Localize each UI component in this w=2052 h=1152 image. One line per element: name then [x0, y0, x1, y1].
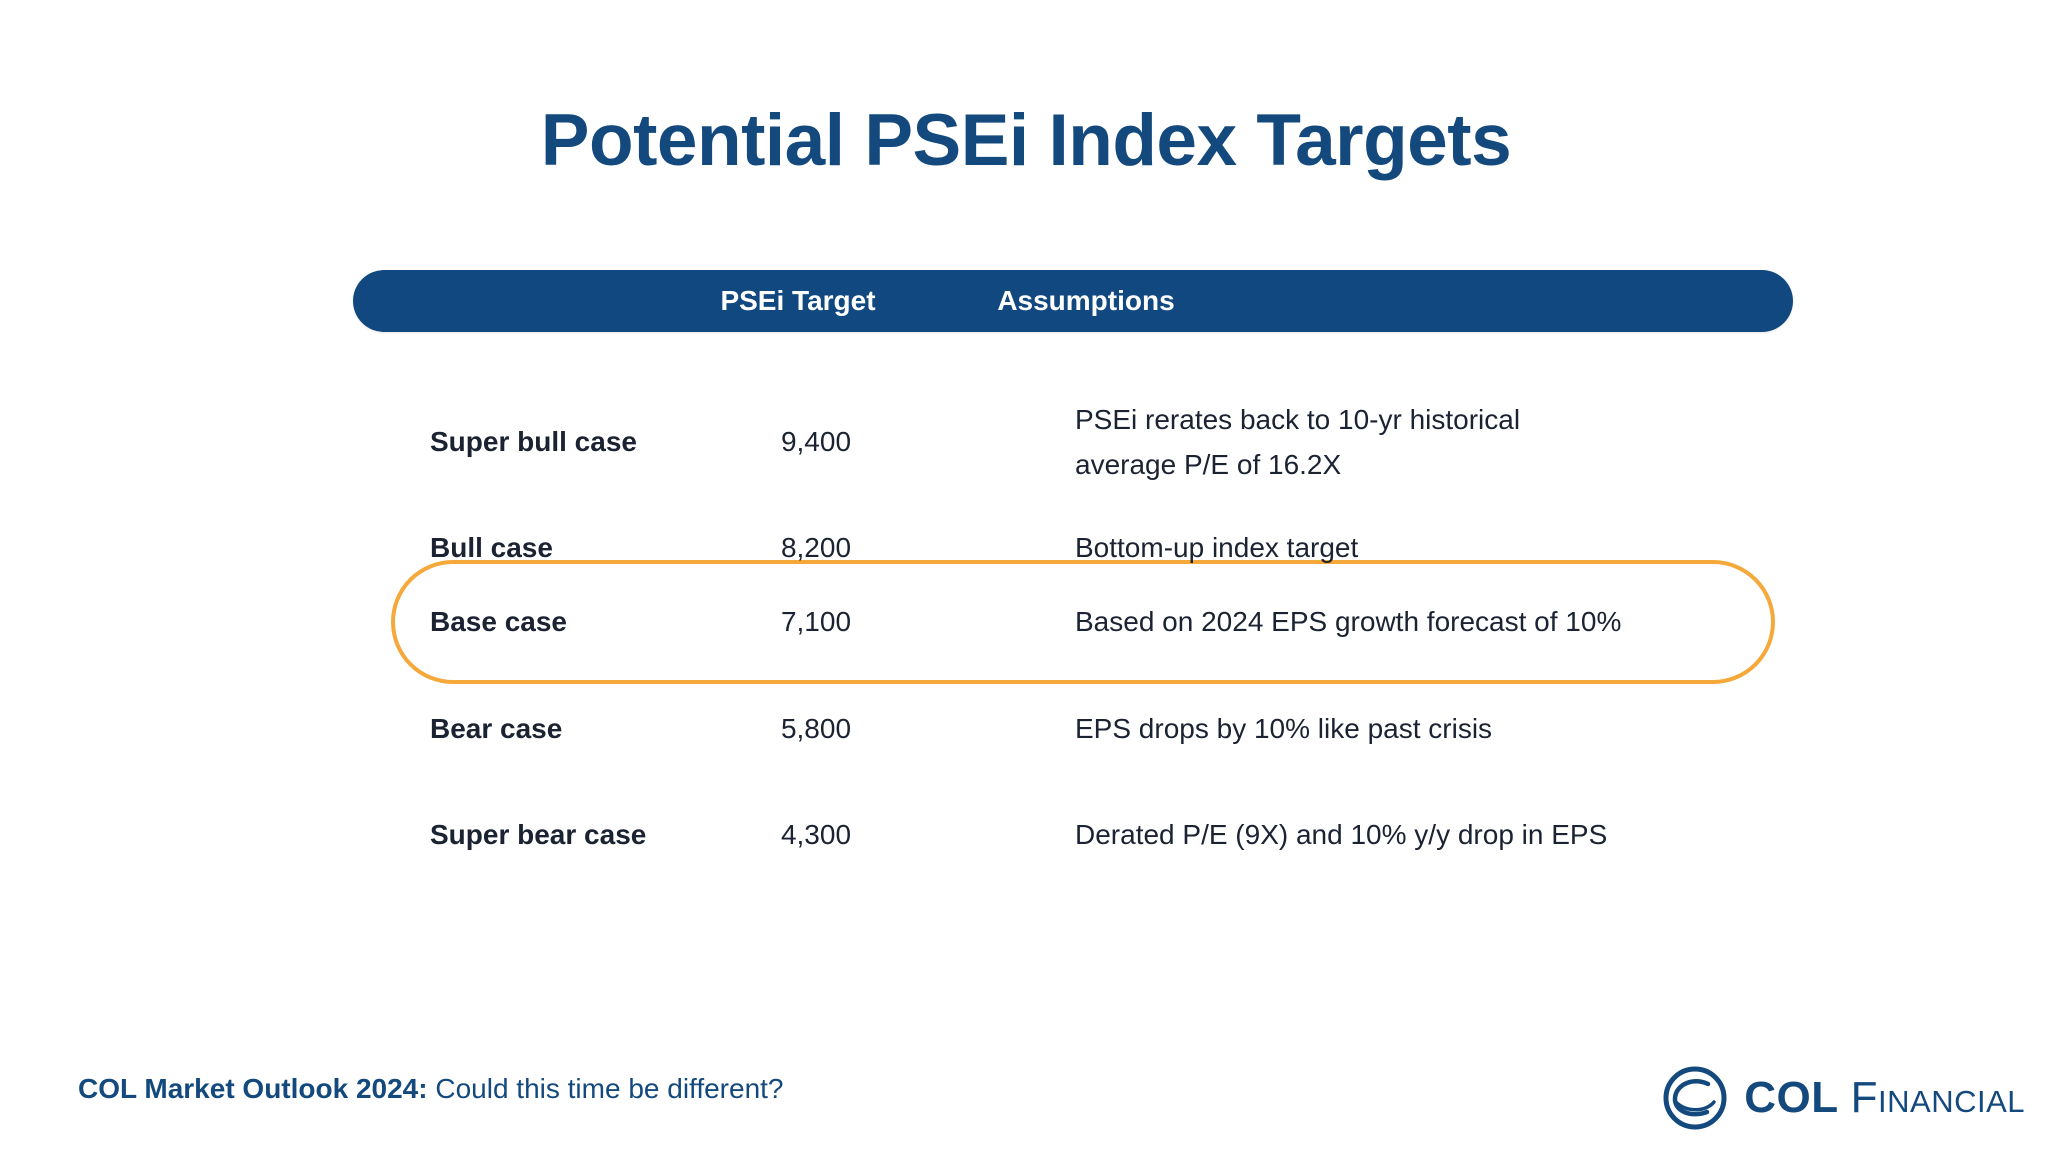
row-target-value: 9,400: [653, 414, 979, 470]
logo-text-col: COL: [1744, 1076, 1838, 1120]
targets-table: PSEi Target Assumptions Super bull case …: [353, 270, 1793, 332]
col-logo-circle-icon: [1662, 1065, 1728, 1131]
row-assumption-text: Bottom-up index target: [1075, 520, 1775, 576]
row-assumption-line1: PSEi rerates back to 10-yr historical: [1075, 397, 1775, 442]
footer-deck-title: COL Market Outlook 2024:: [78, 1073, 428, 1104]
table-row[interactable]: Super bull case 9,400 PSEi rerates back …: [353, 414, 1793, 470]
row-assumption-text: EPS drops by 10% like past crisis: [1075, 701, 1775, 757]
col-financial-logo: COL Financial: [1662, 1062, 2025, 1134]
col-logo-wordmark: COL Financial: [1744, 1076, 2025, 1120]
row-assumption-text: Derated P/E (9X) and 10% y/y drop in EPS: [1075, 807, 1775, 863]
row-target-value: 7,100: [653, 594, 979, 650]
table-row[interactable]: Bear case 5,800 EPS drops by 10% like pa…: [353, 701, 1793, 757]
page-title: Potential PSEi Index Targets: [0, 104, 2052, 177]
footer-deck-label: COL Market Outlook 2024: Could this time…: [78, 1073, 784, 1105]
table-row[interactable]: Base case 7,100 Based on 2024 EPS growth…: [353, 594, 1793, 650]
row-target-value: 4,300: [653, 807, 979, 863]
row-assumption-line2: average P/E of 16.2X: [1075, 442, 1775, 487]
footer-deck-subtitle: Could this time be different?: [435, 1073, 783, 1104]
row-assumption-text: PSEi rerates back to 10-yr historical av…: [1075, 397, 1775, 487]
table-header-bar: PSEi Target Assumptions: [353, 270, 1793, 332]
row-target-value: 8,200: [653, 520, 979, 576]
row-target-value: 5,800: [653, 701, 979, 757]
row-assumption-text: Based on 2024 EPS growth forecast of 10%: [1075, 594, 1775, 650]
table-row[interactable]: Bull case 8,200 Bottom-up index target: [353, 520, 1793, 576]
logo-text-financial: Financial: [1851, 1076, 2025, 1120]
column-header-assumptions: Assumptions: [961, 270, 1211, 332]
table-row[interactable]: Super bear case 4,300 Derated P/E (9X) a…: [353, 807, 1793, 863]
column-header-psei-target: PSEi Target: [683, 270, 913, 332]
